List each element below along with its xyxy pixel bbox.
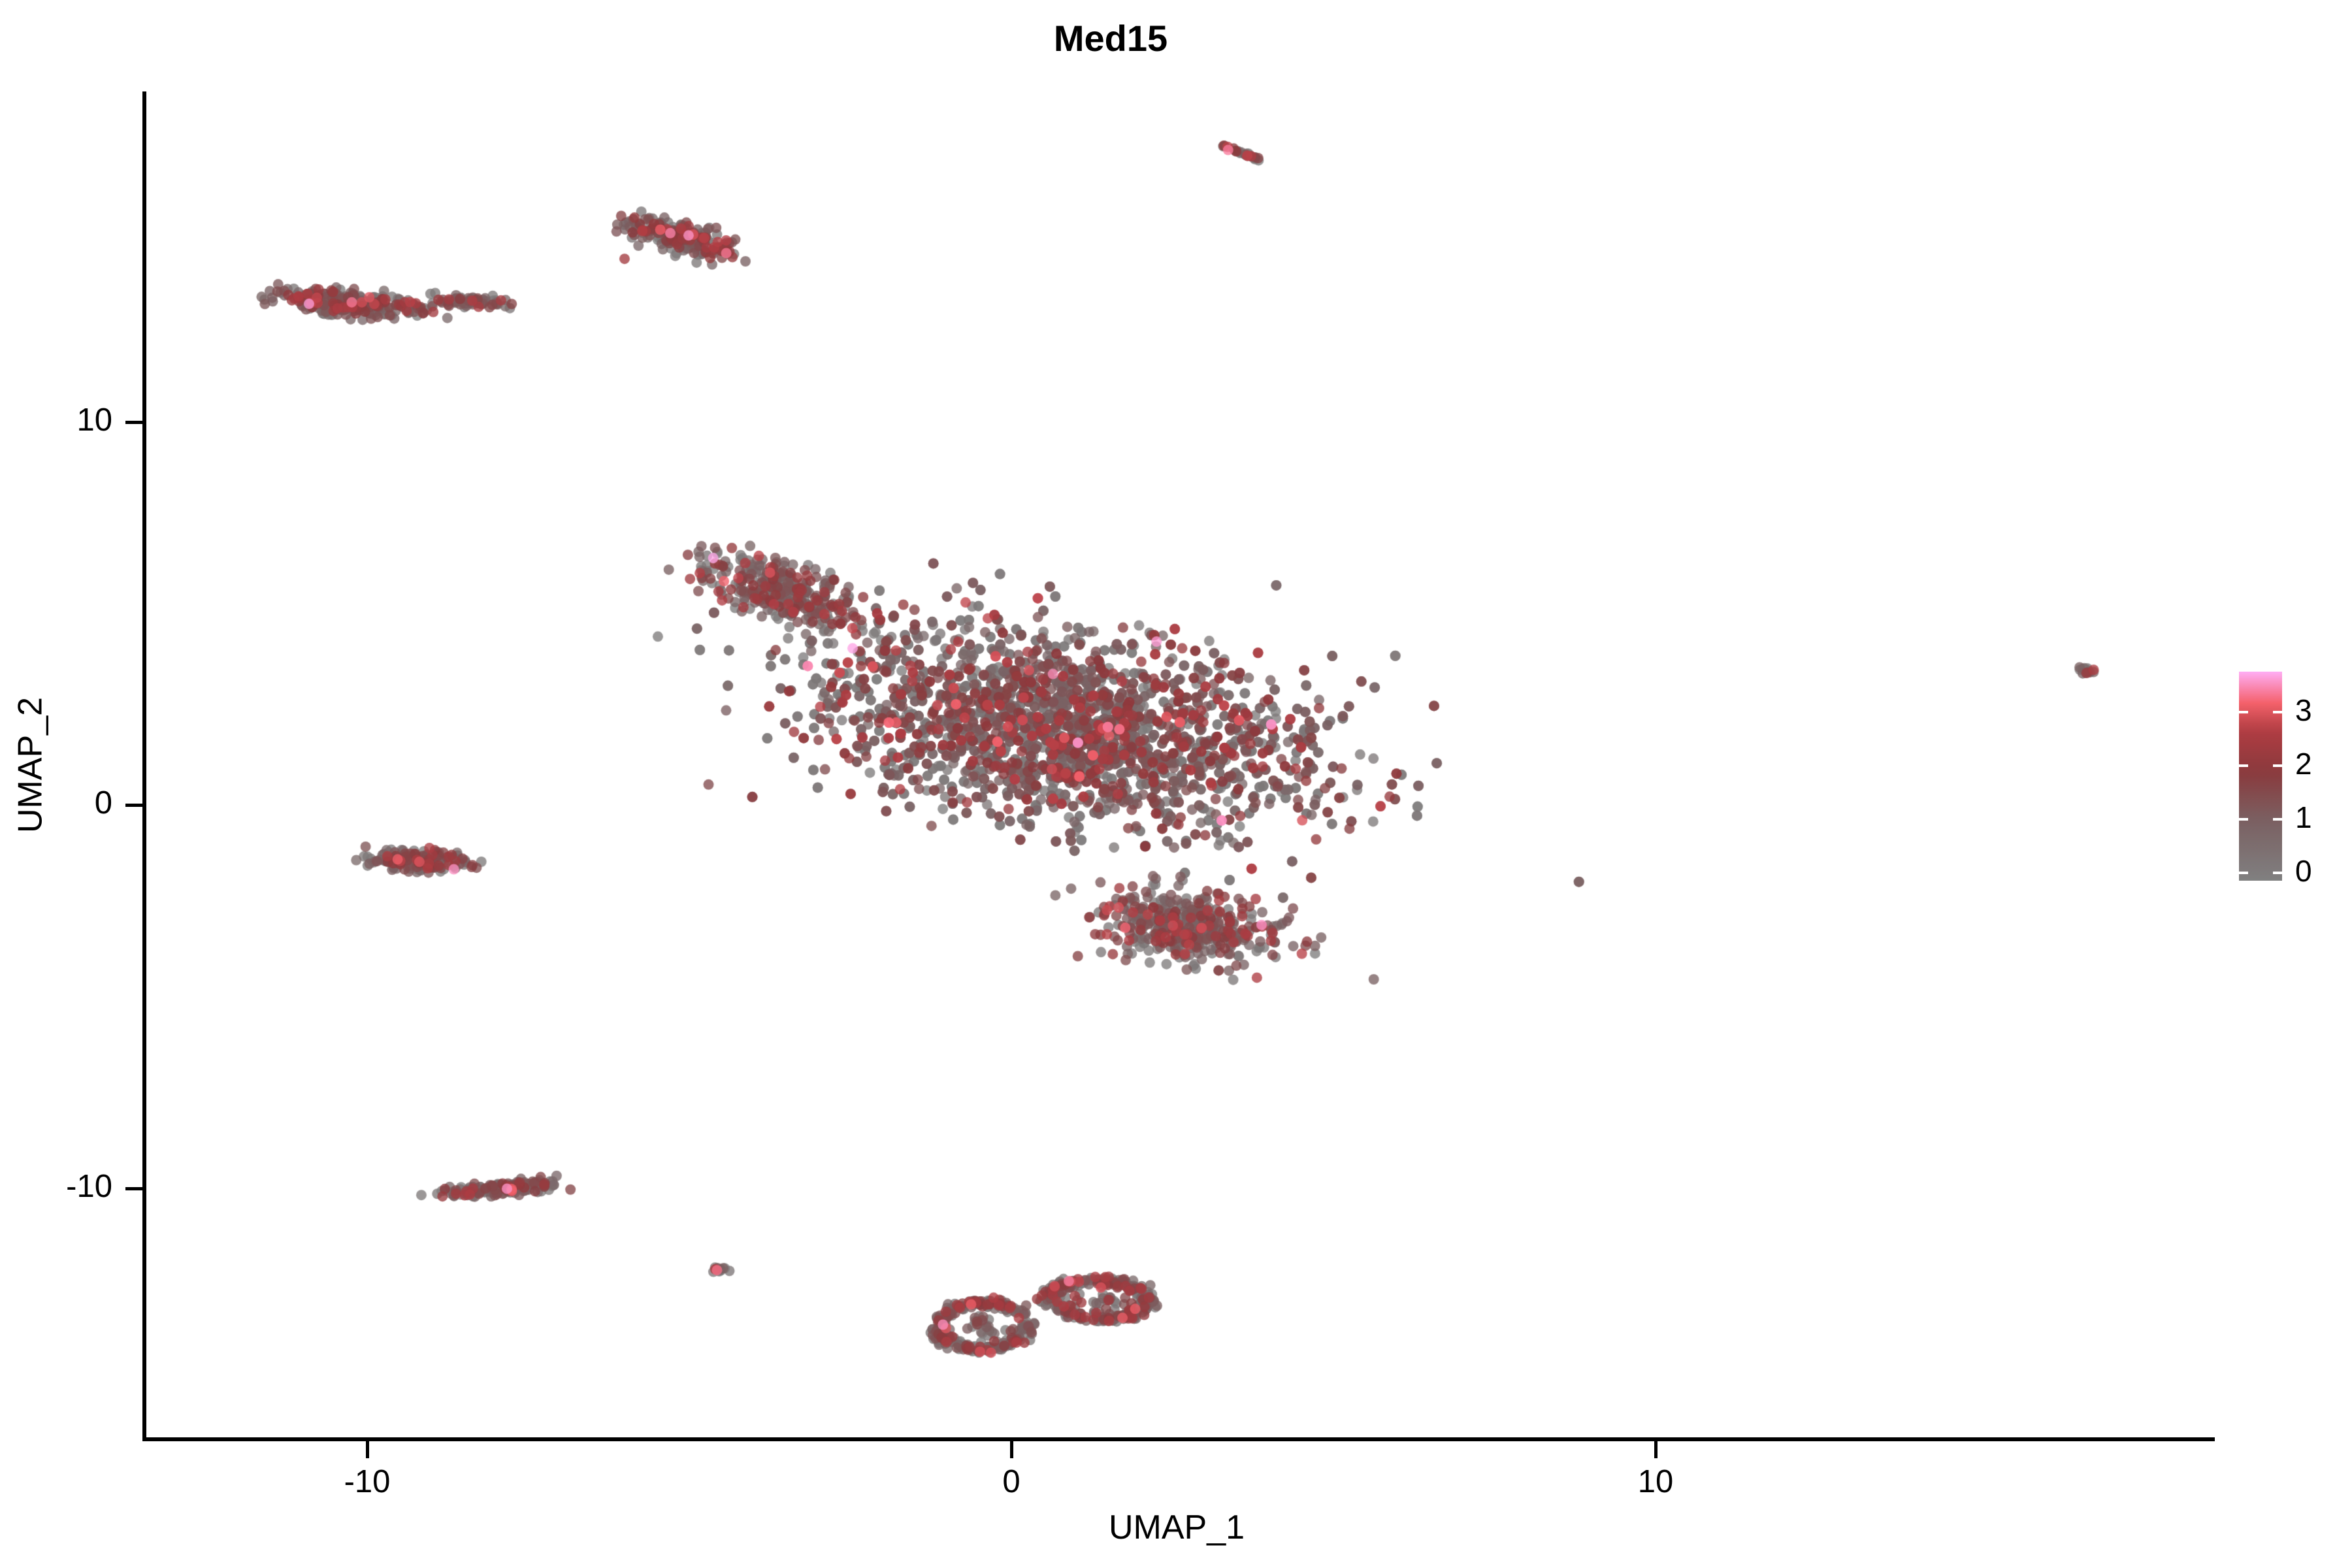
- x-axis-line: [142, 1437, 2215, 1441]
- x-tick-label: -10: [302, 1463, 433, 1500]
- x-tick-mark: [1010, 1441, 1013, 1458]
- y-axis-line: [142, 91, 146, 1441]
- colorbar-tick-mark: [2239, 764, 2248, 767]
- colorbar-tick-label: 3: [2295, 693, 2312, 728]
- y-axis-label: UMAP_2: [11, 697, 50, 833]
- x-tick-mark: [1654, 1441, 1658, 1458]
- colorbar-tick-mark: [2273, 764, 2282, 767]
- colorbar-tick-label: 2: [2295, 746, 2312, 781]
- colorbar-tick-mark: [2273, 872, 2282, 874]
- colorbar-tick-label: 1: [2295, 800, 2312, 835]
- colorbar-tick-mark: [2239, 818, 2248, 821]
- colorbar-tick-mark: [2239, 872, 2248, 874]
- y-axis-label-wrapper: UMAP_2: [8, 91, 54, 1439]
- page-title: Med15: [0, 17, 2221, 59]
- scatter-plot-canvas: [0, 0, 2352, 1568]
- x-axis-label: UMAP_1: [144, 1508, 2209, 1547]
- umap-feature-plot: Med15 -10010 -10010 UMAP_1 UMAP_2 0123: [0, 0, 2352, 1568]
- y-tick-mark: [125, 1187, 142, 1190]
- y-tick-mark: [125, 421, 142, 424]
- y-tick-mark: [125, 804, 142, 807]
- x-tick-mark: [366, 1441, 369, 1458]
- color-legend: 0123: [2239, 672, 2337, 887]
- x-tick-label: 0: [946, 1463, 1077, 1500]
- colorbar-tick-mark: [2273, 711, 2282, 713]
- colorbar-tick-mark: [2273, 818, 2282, 821]
- colorbar-tick-label: 0: [2295, 853, 2312, 889]
- colorbar-tick-mark: [2239, 711, 2248, 713]
- x-tick-label: 10: [1590, 1463, 1721, 1500]
- colorbar-gradient: [2239, 672, 2282, 881]
